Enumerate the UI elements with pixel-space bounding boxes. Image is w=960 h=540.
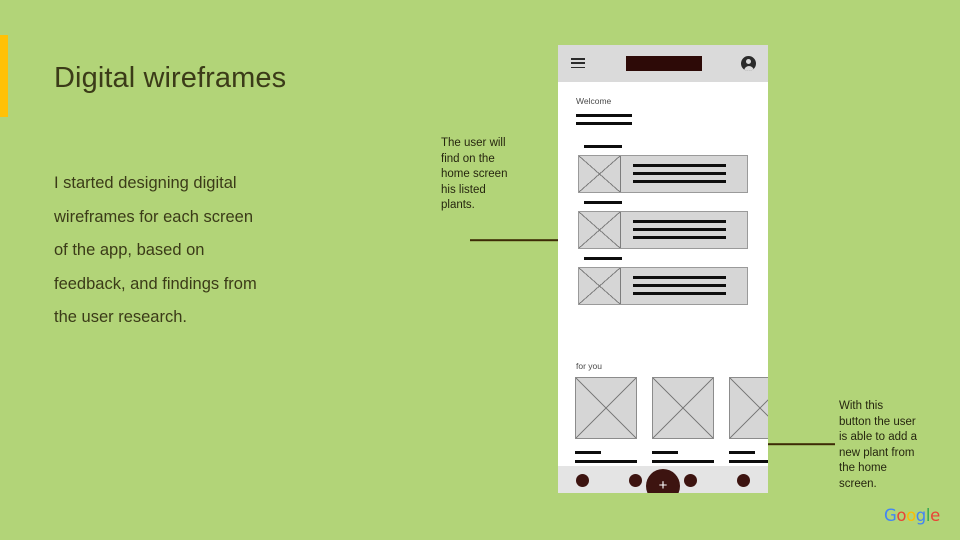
accent-bar [0, 35, 8, 117]
for-you-card[interactable] [729, 377, 768, 463]
annotation-left-line-1: The user will [441, 136, 507, 152]
nav-dot-4[interactable] [737, 474, 750, 487]
for-you-card[interactable] [575, 377, 637, 463]
annotation-home-screen: The user will find on the home screen hi… [441, 136, 507, 214]
hamburger-menu-icon[interactable] [571, 58, 585, 69]
welcome-placeholder-line [576, 122, 632, 125]
annotation-add-plant-button: With this button the user is able to add… [839, 399, 917, 492]
list-item-text-placeholder [633, 220, 726, 244]
for-you-card[interactable] [652, 377, 714, 463]
phone-wireframe-mockup: Welcome [558, 45, 768, 493]
annotation-left-line-4: his listed [441, 183, 507, 199]
card-caption-short-placeholder [575, 451, 601, 454]
body-line-1: I started designing digital [54, 167, 344, 201]
annotation-left-line-5: plants. [441, 198, 507, 214]
nav-dot-1[interactable] [576, 474, 589, 487]
card-caption-long-placeholder [729, 460, 768, 463]
body-paragraph: I started designing digital wireframes f… [54, 167, 344, 335]
nav-dot-2[interactable] [629, 474, 642, 487]
image-placeholder-icon [579, 156, 621, 192]
annotation-right-line-3: is able to add a [839, 430, 917, 446]
logo-letter-g2: g [916, 506, 926, 525]
logo-letter-o2: o [906, 506, 916, 525]
image-placeholder-icon [579, 268, 621, 304]
logo-letter-o1: o [896, 506, 906, 525]
image-placeholder-icon [579, 212, 621, 248]
list-item-card[interactable] [578, 267, 748, 305]
phone-top-app-bar [558, 45, 768, 82]
page-title: Digital wireframes [54, 62, 286, 95]
list-item-label-placeholder [584, 201, 622, 204]
arrow-shaft [470, 239, 570, 241]
phone-screen-content: Welcome [558, 82, 768, 493]
image-placeholder-icon [729, 377, 768, 439]
logo-letter-g: G [884, 506, 896, 525]
card-caption-short-placeholder [652, 451, 678, 454]
body-line-2: wireframes for each screen [54, 201, 344, 235]
list-item-label-placeholder [584, 257, 622, 260]
annotation-right-line-2: button the user [839, 415, 917, 431]
account-circle-icon[interactable] [741, 56, 756, 71]
annotation-left-line-3: home screen [441, 167, 507, 183]
list-item-label-placeholder [584, 145, 622, 148]
list-item-text-placeholder [633, 164, 726, 188]
annotation-right-line-1: With this [839, 399, 917, 415]
annotation-left-line-2: find on the [441, 152, 507, 168]
annotation-right-line-6: screen. [839, 477, 917, 493]
welcome-placeholder-line [576, 114, 632, 117]
list-item-text-placeholder [633, 276, 726, 300]
card-caption-short-placeholder [729, 451, 755, 454]
welcome-label: Welcome [576, 96, 611, 106]
image-placeholder-icon [652, 377, 714, 439]
search-bar-placeholder[interactable] [626, 56, 702, 71]
body-line-3: of the app, based on [54, 234, 344, 268]
image-placeholder-icon [575, 377, 637, 439]
annotation-right-line-5: the home [839, 461, 917, 477]
card-caption-long-placeholder [575, 460, 637, 463]
logo-letter-e: e [930, 506, 940, 525]
list-item-card[interactable] [578, 155, 748, 193]
body-line-4: feedback, and findings from [54, 268, 344, 302]
google-logo: Google [884, 506, 940, 525]
annotation-right-line-4: new plant from [839, 446, 917, 462]
for-you-section-label: for you [576, 361, 602, 371]
slide-canvas: Digital wireframes I started designing d… [0, 0, 960, 540]
card-caption-long-placeholder [652, 460, 714, 463]
nav-dot-3[interactable] [684, 474, 697, 487]
body-line-5: the user research. [54, 301, 344, 335]
list-item-card[interactable] [578, 211, 748, 249]
